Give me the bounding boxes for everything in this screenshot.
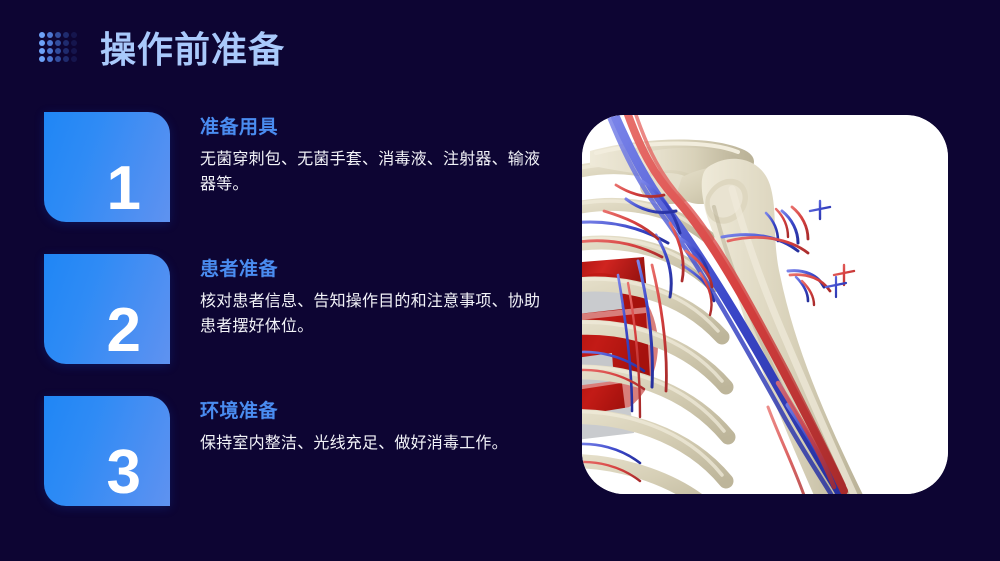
steps-list: 1 准备用具 无菌穿刺包、无菌手套、消毒液、注射器、输液器等。 2 患者准备 核… [0, 112, 560, 538]
slide-header: 操作前准备 [0, 0, 1000, 100]
shoulder-anatomy-image [582, 115, 948, 494]
page-title: 操作前准备 [100, 26, 285, 75]
step-item-1: 1 准备用具 无菌穿刺包、无菌手套、消毒液、注射器、输液器等。 [0, 112, 560, 230]
step-desc-2: 核对患者信息、告知操作目的和注意事项、协助患者摆好体位。 [200, 289, 545, 341]
step-number-1: 1 [107, 158, 140, 220]
step-number-badge-1: 1 [44, 112, 170, 222]
step-desc-3: 保持室内整洁、光线充足、做好消毒工作。 [200, 431, 545, 457]
step-number-badge-3: 3 [44, 396, 170, 506]
step-text-3: 环境准备 保持室内整洁、光线充足、做好消毒工作。 [200, 396, 545, 456]
step-title-3: 环境准备 [200, 398, 545, 427]
step-number-badge-2: 2 [44, 254, 170, 364]
step-title-2: 患者准备 [200, 256, 545, 285]
step-desc-1: 无菌穿刺包、无菌手套、消毒液、注射器、输液器等。 [200, 147, 545, 199]
dot-grid-icon [38, 31, 78, 63]
step-number-2: 2 [107, 300, 140, 362]
step-title-1: 准备用具 [200, 114, 545, 143]
step-text-1: 准备用具 无菌穿刺包、无菌手套、消毒液、注射器、输液器等。 [200, 112, 545, 198]
step-number-3: 3 [107, 442, 140, 504]
slide-root: 操作前准备 1 准备用具 无菌穿刺包、无菌手套、消毒液、注射器、输液器等。 2 … [0, 0, 1000, 561]
step-item-3: 3 环境准备 保持室内整洁、光线充足、做好消毒工作。 [0, 396, 560, 514]
shoulder-anatomy-svg [582, 115, 948, 494]
step-item-2: 2 患者准备 核对患者信息、告知操作目的和注意事项、协助患者摆好体位。 [0, 254, 560, 372]
step-text-2: 患者准备 核对患者信息、告知操作目的和注意事项、协助患者摆好体位。 [200, 254, 545, 340]
